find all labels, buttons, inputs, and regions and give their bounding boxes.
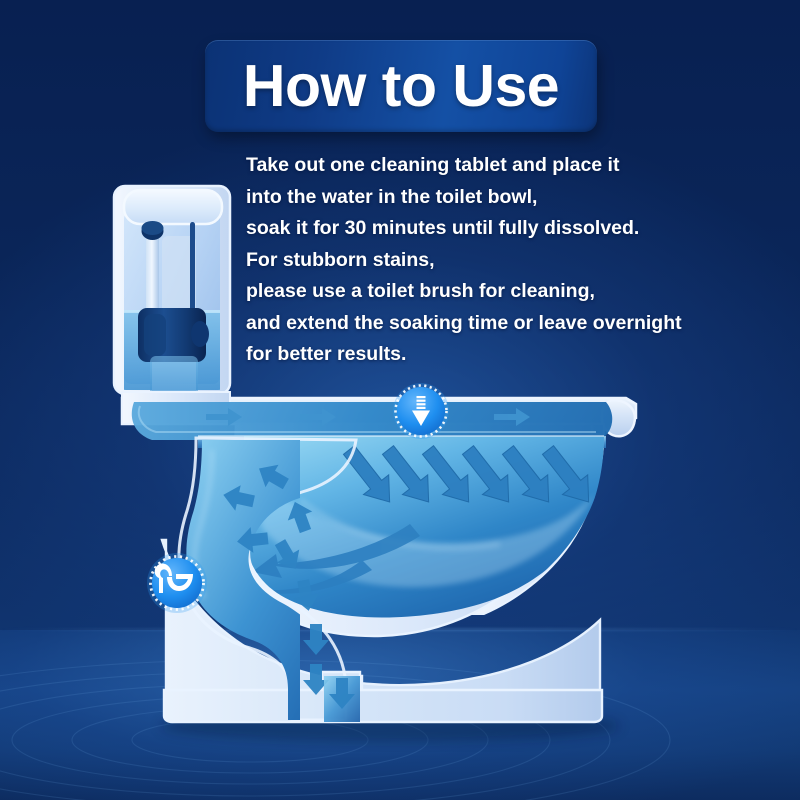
tank-lid xyxy=(124,190,222,224)
instruction-line-6: and extend the soaking time or leave ove… xyxy=(246,308,766,340)
instruction-line-5: please use a toilet brush for cleaning, xyxy=(246,276,766,308)
instruction-line-3: soak it for 30 minutes until fully disso… xyxy=(246,213,766,245)
instruction-line-1: Take out one cleaning tablet and place i… xyxy=(246,150,766,182)
flapper xyxy=(191,321,209,347)
rim-channel-water xyxy=(132,402,613,440)
cistern-group xyxy=(114,186,230,396)
page-title: How to Use xyxy=(243,52,559,120)
instruction-line-7: for better results. xyxy=(246,339,766,371)
tank-outlet xyxy=(150,356,198,396)
illustration-scene: How to Use Take out one cleaning tablet … xyxy=(0,0,800,800)
instruction-line-2: into the water in the toilet bowl, xyxy=(246,182,766,214)
siphon-trap-badge[interactable] xyxy=(146,552,208,614)
title-banner: How to Use xyxy=(205,40,597,132)
downward-flush-badge[interactable] xyxy=(392,382,450,440)
instruction-line-4: For stubborn stains, xyxy=(246,245,766,277)
instructions-block: Take out one cleaning tablet and place i… xyxy=(246,150,766,371)
